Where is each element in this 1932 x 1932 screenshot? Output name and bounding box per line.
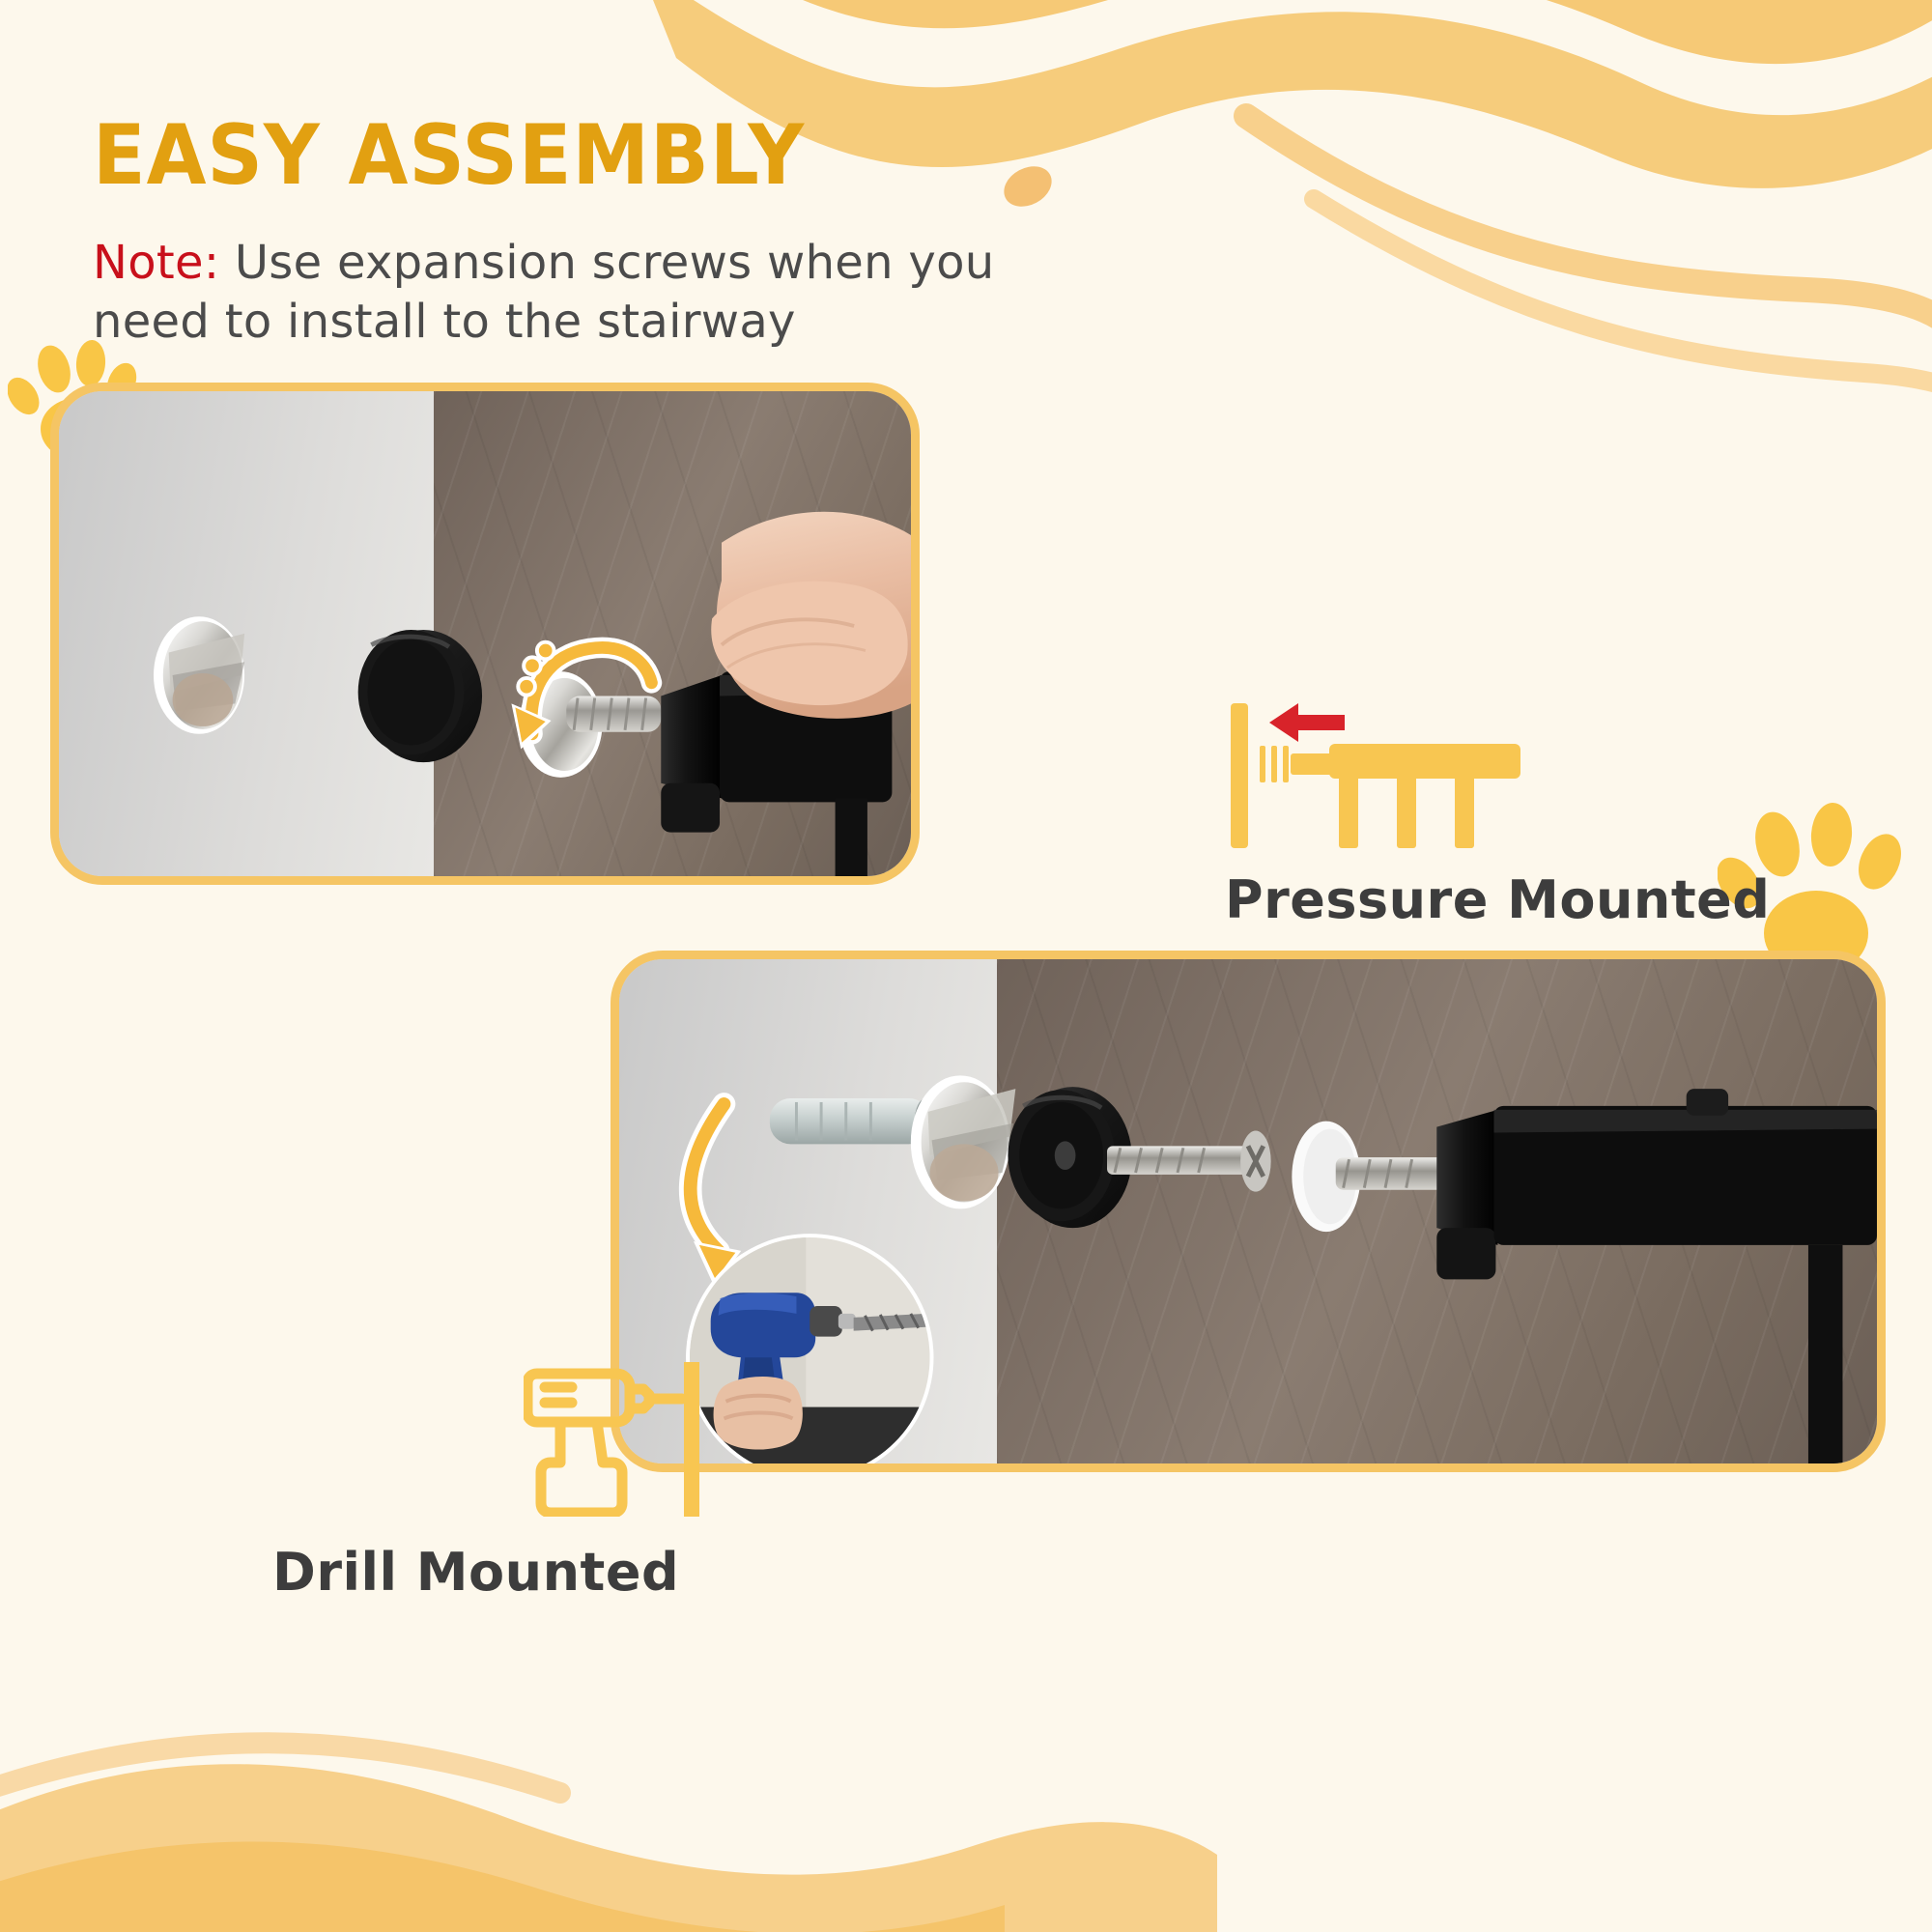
pressure-mount-icon — [1225, 694, 1573, 848]
wave-stroke-right — [1246, 116, 1932, 338]
threaded-knob — [1336, 1110, 1498, 1280]
drill-mounted-label: Drill Mounted — [272, 1542, 679, 1603]
drill-photo — [619, 959, 1877, 1463]
wall-mount-cup — [154, 616, 244, 734]
page-title: EASY ASSEMBLY — [93, 114, 1261, 197]
wave-shape-bottom — [0, 1764, 1217, 1932]
wall-mount-cup — [890, 1071, 1015, 1208]
curved-arrow-icon — [691, 1104, 742, 1287]
wave-shape-top — [676, 0, 1932, 64]
pressure-mounted-label: Pressure Mounted — [1225, 869, 1770, 930]
pressure-photo-panel — [50, 383, 920, 885]
black-cap — [358, 630, 482, 762]
black-gate-post — [1493, 1089, 1877, 1463]
header-block: EASY ASSEMBLY Note: Use expansion screws… — [93, 114, 1349, 353]
drill-mount-icon — [524, 1362, 717, 1517]
pressure-photo — [59, 391, 911, 876]
pressure-parts-group — [59, 391, 911, 876]
note-label: Note: — [93, 236, 219, 290]
hand-gripping-gate-post — [711, 512, 911, 719]
drill-photo-panel — [611, 951, 1886, 1472]
drill-parts-group — [619, 959, 1877, 1463]
pressure-arrow-icon — [1269, 703, 1345, 742]
note-body: Use expansion screws when you need to in… — [93, 236, 995, 349]
note-text: Note: Use expansion screws when you need… — [93, 234, 1117, 353]
wave-shape-bottom-2 — [0, 1841, 1005, 1932]
wave-stroke-bottom — [0, 1743, 560, 1799]
phillips-screw — [1107, 1131, 1271, 1192]
infographic-page: EASY ASSEMBLY Note: Use expansion screws… — [0, 0, 1932, 1932]
wave-stroke-right-2 — [1314, 199, 1932, 406]
